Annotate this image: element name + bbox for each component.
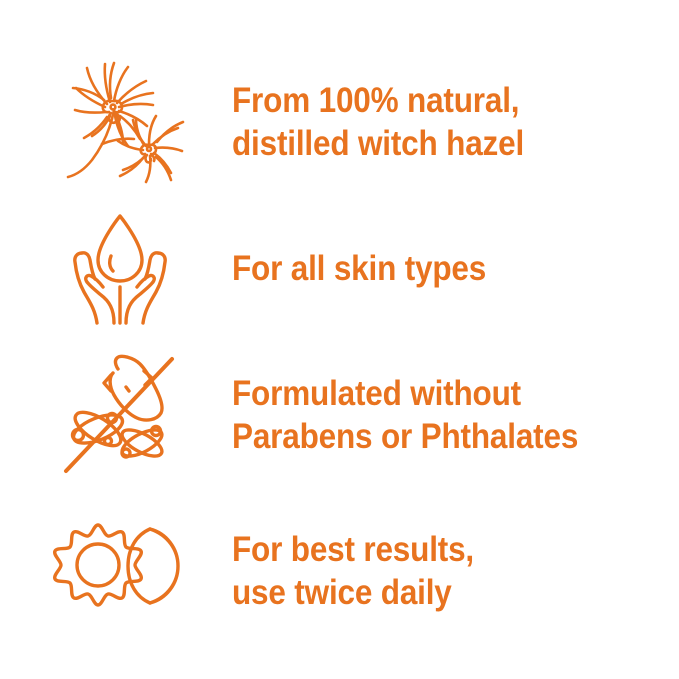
no-chemicals-flask-icon: [50, 350, 190, 480]
sun-and-moon-icon: [50, 506, 190, 636]
benefits-panel: From 100% natural, distilled witch hazel: [0, 0, 679, 679]
benefit-text-natural: From 100% natural, distilled witch hazel: [232, 79, 524, 166]
benefit-row-natural: From 100% natural, distilled witch hazel: [0, 42, 679, 202]
benefit-text-free-from: Formulated without Parabens or Phthalate…: [232, 372, 578, 459]
hands-holding-droplet-icon: [50, 204, 190, 334]
witch-hazel-flowers-icon: [50, 57, 190, 187]
benefit-text-skin-types: For all skin types: [232, 247, 486, 290]
benefit-row-frequency: For best results, use twice daily: [0, 496, 679, 646]
benefit-row-skin-types: For all skin types: [0, 204, 679, 334]
benefit-text-frequency: For best results, use twice daily: [232, 528, 474, 615]
benefit-row-free-from: Formulated without Parabens or Phthalate…: [0, 340, 679, 490]
